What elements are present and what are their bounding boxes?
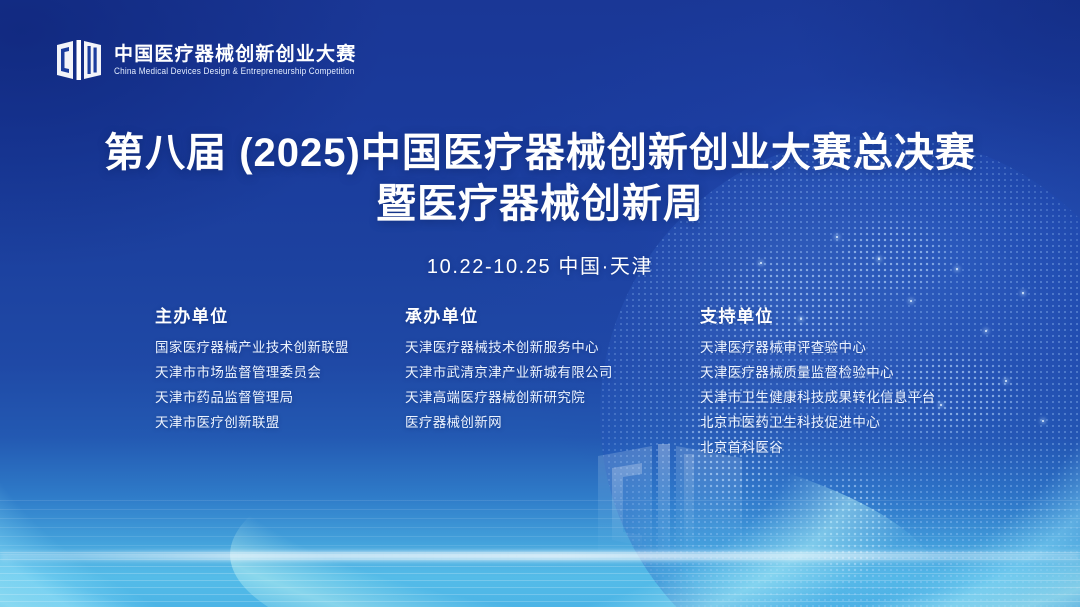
org-item: 天津医疗器械审评查验中心 [700,336,985,361]
org-item: 天津市市场监督管理委员会 [155,361,405,386]
sparkle-dot [836,236,838,238]
brand-name-cn: 中国医疗器械创新创业大赛 [114,45,356,65]
org-column-organizers: 承办单位 天津医疗器械技术创新服务中心 天津市武清京津产业新城有限公司 天津高端… [405,302,700,461]
title-line-2: 暨医疗器械创新周 [0,179,1080,230]
org-heading-hosts: 主办单位 [155,302,405,327]
org-item: 天津市卫生健康科技成果转化信息平台 [700,386,985,411]
organizations-section: 主办单位 国家医疗器械产业技术创新联盟 天津市市场监督管理委员会 天津市药品监督… [155,302,985,461]
org-column-supporters: 支持单位 天津医疗器械审评查验中心 天津医疗器械质量监督检验中心 天津市卫生健康… [700,302,985,461]
horizontal-stripes-upper [0,500,1080,560]
sparkle-dot [985,330,987,332]
org-item: 医疗器械创新网 [405,411,700,436]
org-item: 天津市武清京津产业新城有限公司 [405,361,700,386]
org-item: 天津市医疗创新联盟 [155,411,405,436]
org-column-hosts: 主办单位 国家医疗器械产业技术创新联盟 天津市市场监督管理委员会 天津市药品监督… [155,302,405,461]
org-item: 天津医疗器械技术创新服务中心 [405,336,700,361]
sparkle-dot [1042,420,1044,422]
title-line-1: 第八届 (2025)中国医疗器械创新创业大赛总决赛 [0,128,1080,179]
poster-canvas: 中国医疗器械创新创业大赛 China Medical Devices Desig… [0,0,1080,607]
date-location: 10.22-10.25 中国·天津 [0,250,1080,279]
org-heading-organizers: 承办单位 [405,302,700,327]
org-item: 北京首科医谷 [700,436,985,461]
page-title: 第八届 (2025)中国医疗器械创新创业大赛总决赛 暨医疗器械创新周 [0,128,1080,230]
org-item: 天津医疗器械质量监督检验中心 [700,361,985,386]
brand-name-en: China Medical Devices Design & Entrepren… [114,66,356,76]
org-item: 北京市医药卫生科技促进中心 [700,411,985,436]
org-item: 天津高端医疗器械创新研究院 [405,386,700,411]
org-heading-supporters: 支持单位 [700,302,985,327]
brand-logo-text: 中国医疗器械创新创业大赛 China Medical Devices Desig… [114,45,356,76]
org-item: 国家医疗器械产业技术创新联盟 [155,336,405,361]
sparkle-dot [1022,292,1024,294]
sparkle-dot [1005,380,1007,382]
open-door-book-icon [56,38,102,82]
org-item: 天津市药品监督管理局 [155,386,405,411]
horizontal-stripes [0,552,1080,607]
brand-logo: 中国医疗器械创新创业大赛 China Medical Devices Desig… [56,38,356,82]
